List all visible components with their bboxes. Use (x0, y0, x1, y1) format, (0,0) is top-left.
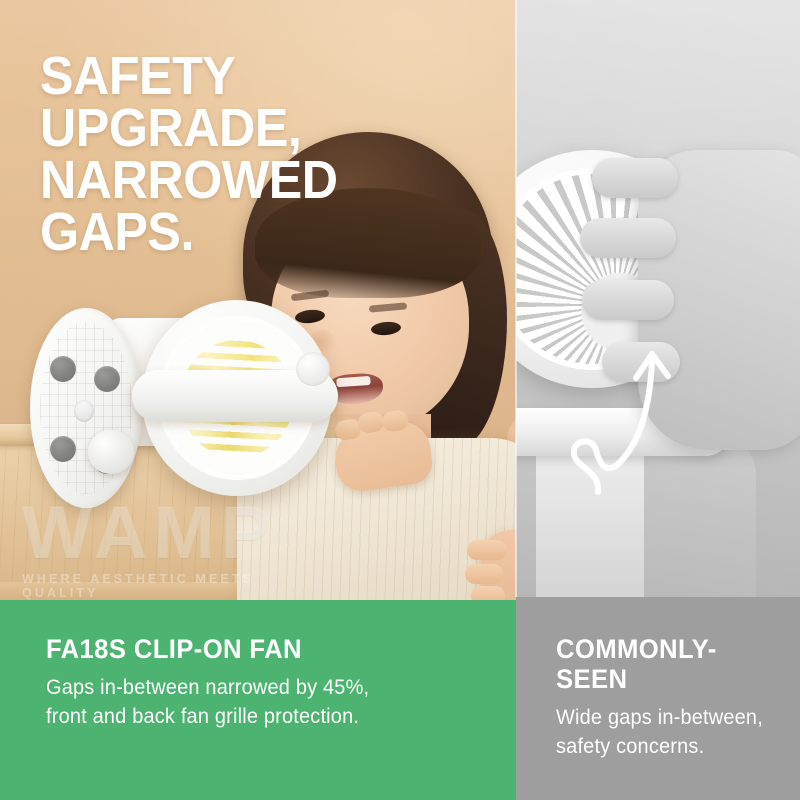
headline-line-2: NARROWED GAPS. (40, 154, 477, 258)
right-caption-body: Wide gaps in-between, safety concerns. (556, 703, 782, 761)
finger (471, 586, 505, 600)
fan-power-button (296, 352, 330, 386)
finger (467, 540, 507, 560)
right-caption-body-line-2: safety concerns. (556, 732, 782, 761)
finger (592, 158, 678, 198)
finger (357, 411, 386, 434)
child-hand-right (481, 530, 516, 600)
left-caption-body-line-1: Gaps in-between narrowed by 45%, (46, 673, 455, 702)
right-caption-band: COMMONLY-SEEN Wide gaps in-between, safe… (516, 597, 800, 800)
child-teeth (336, 376, 371, 387)
headline: SAFETY UPGRADE, NARROWED GAPS. (40, 50, 477, 258)
clamp-knob (74, 400, 94, 422)
clamp-rubber-foot (50, 436, 76, 462)
left-caption-body: Gaps in-between narrowed by 45%, front a… (46, 673, 455, 731)
fan-clamp-pad (30, 308, 142, 508)
panel-divider (515, 0, 517, 597)
left-caption-band: FA18S CLIP-ON FAN Gaps in-between narrow… (0, 600, 516, 800)
finger (381, 409, 410, 432)
fan-hinge (88, 430, 134, 474)
left-caption-title: FA18S CLIP-ON FAN (46, 634, 455, 664)
left-caption-body-line-2: front and back fan grille protection. (46, 702, 455, 731)
right-column (516, 0, 800, 597)
right-product-photo (516, 0, 800, 597)
product-comparison-ad: WAMP WHERE AESTHETIC MEETS QUALITY SAFET… (0, 0, 800, 800)
headline-line-1: SAFETY UPGRADE, (40, 46, 301, 158)
right-caption-body-line-1: Wide gaps in-between, (556, 703, 782, 732)
finger (582, 280, 674, 320)
clamp-rubber-foot (94, 366, 120, 392)
right-caption-title: COMMONLY-SEEN (556, 634, 782, 694)
finger (580, 218, 676, 258)
clamp-rubber-foot (50, 356, 76, 382)
curved-up-arrow-icon (564, 330, 684, 500)
left-column: WAMP WHERE AESTHETIC MEETS QUALITY SAFET… (0, 0, 516, 800)
finger (465, 564, 503, 584)
